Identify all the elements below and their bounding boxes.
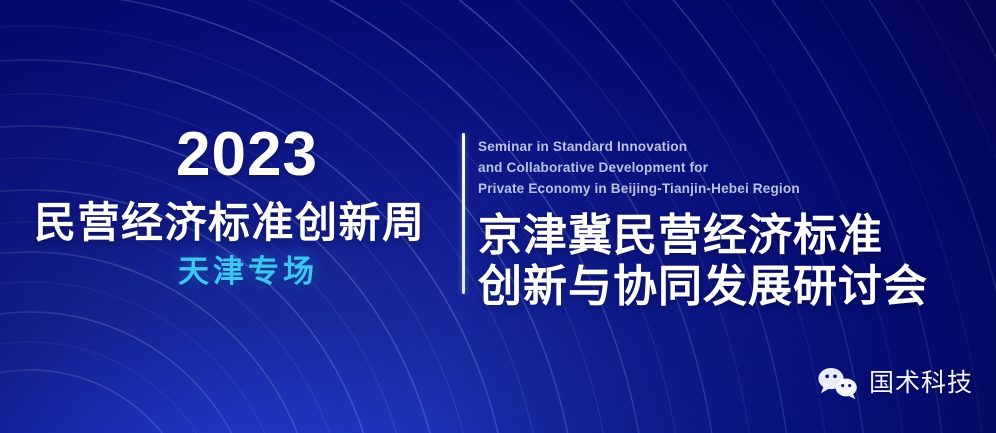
main-headline-cn: 民营经济标准创新周 (34, 200, 454, 245)
english-subtitle-line-2: and Collaborative Development for (478, 157, 983, 178)
left-title-block: 2023 民营经济标准创新周 天津专场 (34, 124, 454, 289)
event-title-cn-line-2: 创新与协同发展研讨会 (478, 261, 983, 312)
wechat-watermark: 国术科技 (816, 366, 973, 400)
wechat-account-name: 国术科技 (869, 371, 973, 396)
english-subtitle-line-3: Private Economy in Beijing-Tianjin-Hebei… (478, 178, 983, 199)
vertical-divider (462, 133, 465, 294)
wechat-icon (816, 366, 860, 400)
right-title-block: Seminar in Standard Innovation and Colla… (478, 136, 983, 312)
session-subtitle-cn: 天津专场 (34, 255, 454, 289)
event-banner: 2023 民营经济标准创新周 天津专场 Seminar in Standard … (0, 0, 996, 433)
english-subtitle: Seminar in Standard Innovation and Colla… (478, 136, 983, 200)
event-title-cn: 京津冀民营经济标准 创新与协同发展研讨会 (478, 210, 983, 312)
english-subtitle-line-1: Seminar in Standard Innovation (478, 136, 983, 157)
event-title-cn-line-1: 京津冀民营经济标准 (478, 210, 983, 261)
year-label: 2023 (34, 124, 454, 186)
banner-content: 2023 民营经济标准创新周 天津专场 Seminar in Standard … (0, 0, 996, 433)
